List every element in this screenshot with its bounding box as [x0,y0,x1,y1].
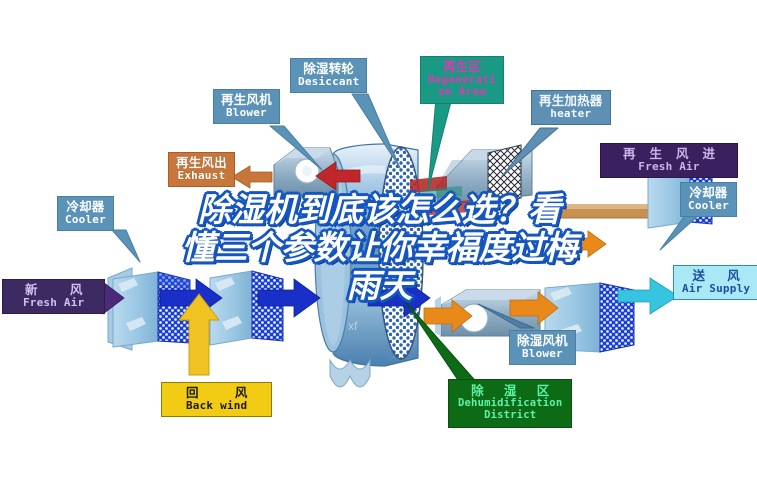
label-regeneration-exhaust-en: Exhaust [176,170,227,182]
label-cooler-right-en: Cooler [688,200,729,212]
label-regeneration-area: 再生区 Regenerati on Area [420,56,504,104]
label-dehumidification-blower: 除湿风机 Blower [509,330,576,365]
headline-overlay: 除湿机到底该怎么选？看 懂三个参数让你幸福度过梅 雨天 [112,191,647,305]
headline-line-1: 除湿机到底该怎么选？看 [112,191,647,229]
label-dehumidification-district-cn: 除 湿 区 [458,384,562,398]
label-air-supply: 送 风 Air Supply [673,265,757,300]
label-regeneration-heater-cn: 再生加热器 [539,94,603,108]
label-cooler-left: 冷却器 Cooler [57,196,114,231]
label-regeneration-fresh-air-in: 再生风进 Fresh Air [600,143,738,178]
label-regeneration-fresh-air-in-en: Fresh Air [609,161,729,173]
label-cooler-right: 冷却器 Cooler [680,182,737,217]
diagram-canvas: xf 除湿转轮 Desiccant 再生风机 Blower 再生区 Regene… [0,0,757,488]
label-regeneration-blower-cn: 再生风机 [221,93,272,107]
arrow-regen-exhaust [232,166,272,188]
label-dehumidification-district-en-line1: Dehumidification [458,398,562,410]
label-fresh-air-in: 新 风 Fresh Air [2,279,105,314]
headline-line-3: 雨天 [112,267,647,305]
label-regeneration-blower-en: Blower [221,107,272,119]
label-desiccant-wheel-cn: 除湿转轮 [298,62,359,76]
label-back-wind: 回 风 Back wind [161,382,272,417]
label-fresh-air-in-en: Fresh Air [11,297,96,309]
label-regeneration-area-en-line2: on Area [428,86,496,98]
label-dehumidification-district: 除 湿 区 Dehumidification District [448,379,572,428]
label-dehumidification-blower-cn: 除湿风机 [517,334,568,348]
label-cooler-right-cn: 冷却器 [688,186,729,200]
label-desiccant-wheel: 除湿转轮 Desiccant [290,58,367,93]
headline-line-2: 懂三个参数让你幸福度过梅 [112,229,647,267]
label-regeneration-exhaust-cn: 再生风出 [176,156,227,170]
label-regeneration-fresh-air-in-cn: 再生风进 [609,147,729,161]
label-back-wind-cn: 回 风 [170,386,263,400]
label-regeneration-exhaust: 再生风出 Exhaust [168,152,235,187]
label-air-supply-en: Air Supply [682,283,750,295]
label-fresh-air-in-cn: 新 风 [11,283,96,297]
watermark-text: xf [348,319,358,333]
label-dehumidification-blower-en: Blower [517,348,568,360]
label-back-wind-en: Back wind [170,400,263,412]
label-dehumidification-district-en-line2: District [458,410,562,422]
label-desiccant-wheel-en: Desiccant [298,76,359,88]
label-cooler-left-en: Cooler [65,214,106,226]
label-regeneration-blower: 再生风机 Blower [213,89,280,124]
label-air-supply-cn: 送 风 [682,269,750,283]
label-cooler-left-cn: 冷却器 [65,200,106,214]
label-regeneration-heater: 再生加热器 heater [531,90,611,125]
label-regeneration-heater-en: heater [539,108,603,120]
label-regeneration-area-cn: 再生区 [428,60,496,74]
